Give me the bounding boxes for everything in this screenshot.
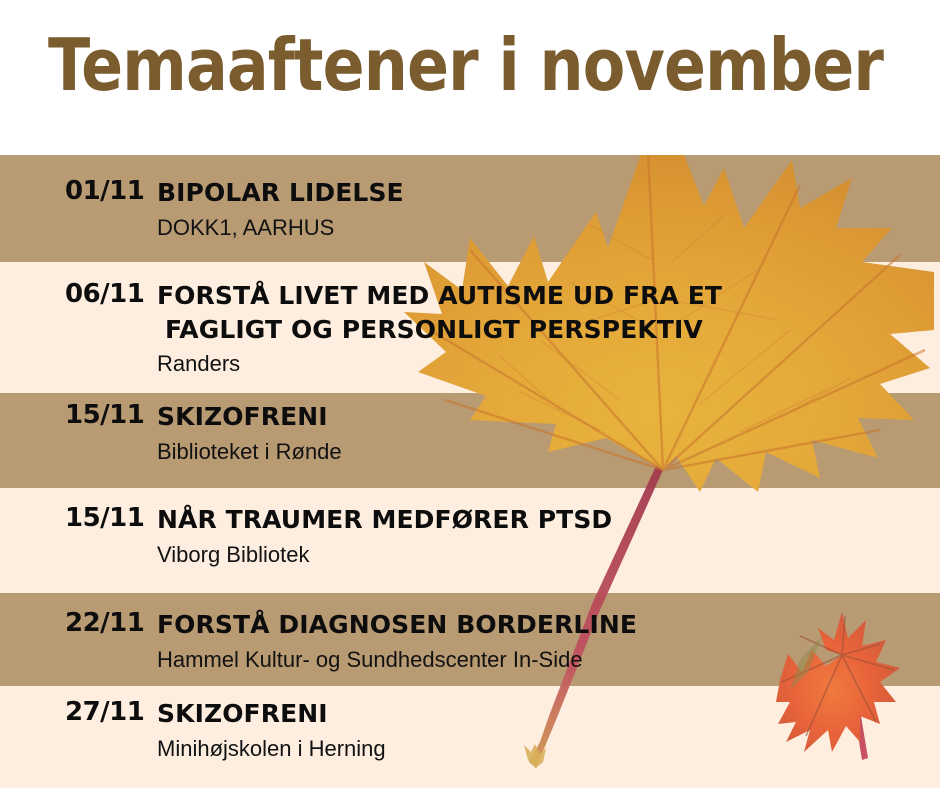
event-title-2-line1: FORSTÅ LIVET MED AUTISME UD FRA ET: [157, 279, 940, 313]
event-venue-2: Randers: [157, 349, 940, 379]
event-body-6: SKIZOFRENI Minihøjskolen i Herning: [157, 697, 940, 763]
poster-header: Temaaftener i november: [0, 0, 940, 155]
event-row-3[interactable]: 15/11 SKIZOFRENI Biblioteket i Rønde: [0, 400, 940, 466]
event-body-1: BIPOLAR LIDELSE DOKK1, AARHUS: [157, 176, 940, 242]
event-venue-4: Viborg Bibliotek: [157, 540, 940, 570]
event-row-4[interactable]: 15/11 NÅR TRAUMER MEDFØRER PTSD Viborg B…: [0, 503, 940, 569]
event-body-3: SKIZOFRENI Biblioteket i Rønde: [157, 400, 940, 466]
event-venue-5: Hammel Kultur- og Sundhedscenter In-Side: [157, 645, 940, 675]
event-date-2: 06/11: [0, 279, 157, 309]
event-title-6: SKIZOFRENI: [157, 697, 940, 731]
event-title-1: BIPOLAR LIDELSE: [157, 176, 940, 210]
event-title-5: FORSTÅ DIAGNOSEN BORDERLINE: [157, 608, 940, 642]
event-row-2[interactable]: 06/11 FORSTÅ LIVET MED AUTISME UD FRA ET…: [0, 279, 940, 379]
event-row-5[interactable]: 22/11 FORSTÅ DIAGNOSEN BORDERLINE Hammel…: [0, 608, 940, 674]
event-row-1[interactable]: 01/11 BIPOLAR LIDELSE DOKK1, AARHUS: [0, 176, 940, 242]
event-date-5: 22/11: [0, 608, 157, 638]
event-row-6[interactable]: 27/11 SKIZOFRENI Minihøjskolen i Herning: [0, 697, 940, 763]
event-title-4: NÅR TRAUMER MEDFØRER PTSD: [157, 503, 940, 537]
event-date-6: 27/11: [0, 697, 157, 727]
event-body-5: FORSTÅ DIAGNOSEN BORDERLINE Hammel Kultu…: [157, 608, 940, 674]
event-body-2: FORSTÅ LIVET MED AUTISME UD FRA ET FAGLI…: [157, 279, 940, 379]
event-title-3: SKIZOFRENI: [157, 400, 940, 434]
event-venue-1: DOKK1, AARHUS: [157, 213, 940, 243]
page-title: Temaaftener i november: [48, 28, 883, 104]
poster-canvas: Temaaftener i november 01/11 BIPOLAR LID…: [0, 0, 940, 788]
event-date-3: 15/11: [0, 400, 157, 430]
event-date-1: 01/11: [0, 176, 157, 206]
event-venue-6: Minihøjskolen i Herning: [157, 734, 940, 764]
event-date-4: 15/11: [0, 503, 157, 533]
event-title-2-line2: FAGLIGT OG PERSONLIGT PERSPEKTIV: [157, 313, 940, 347]
event-venue-3: Biblioteket i Rønde: [157, 437, 940, 467]
event-body-4: NÅR TRAUMER MEDFØRER PTSD Viborg Bibliot…: [157, 503, 940, 569]
